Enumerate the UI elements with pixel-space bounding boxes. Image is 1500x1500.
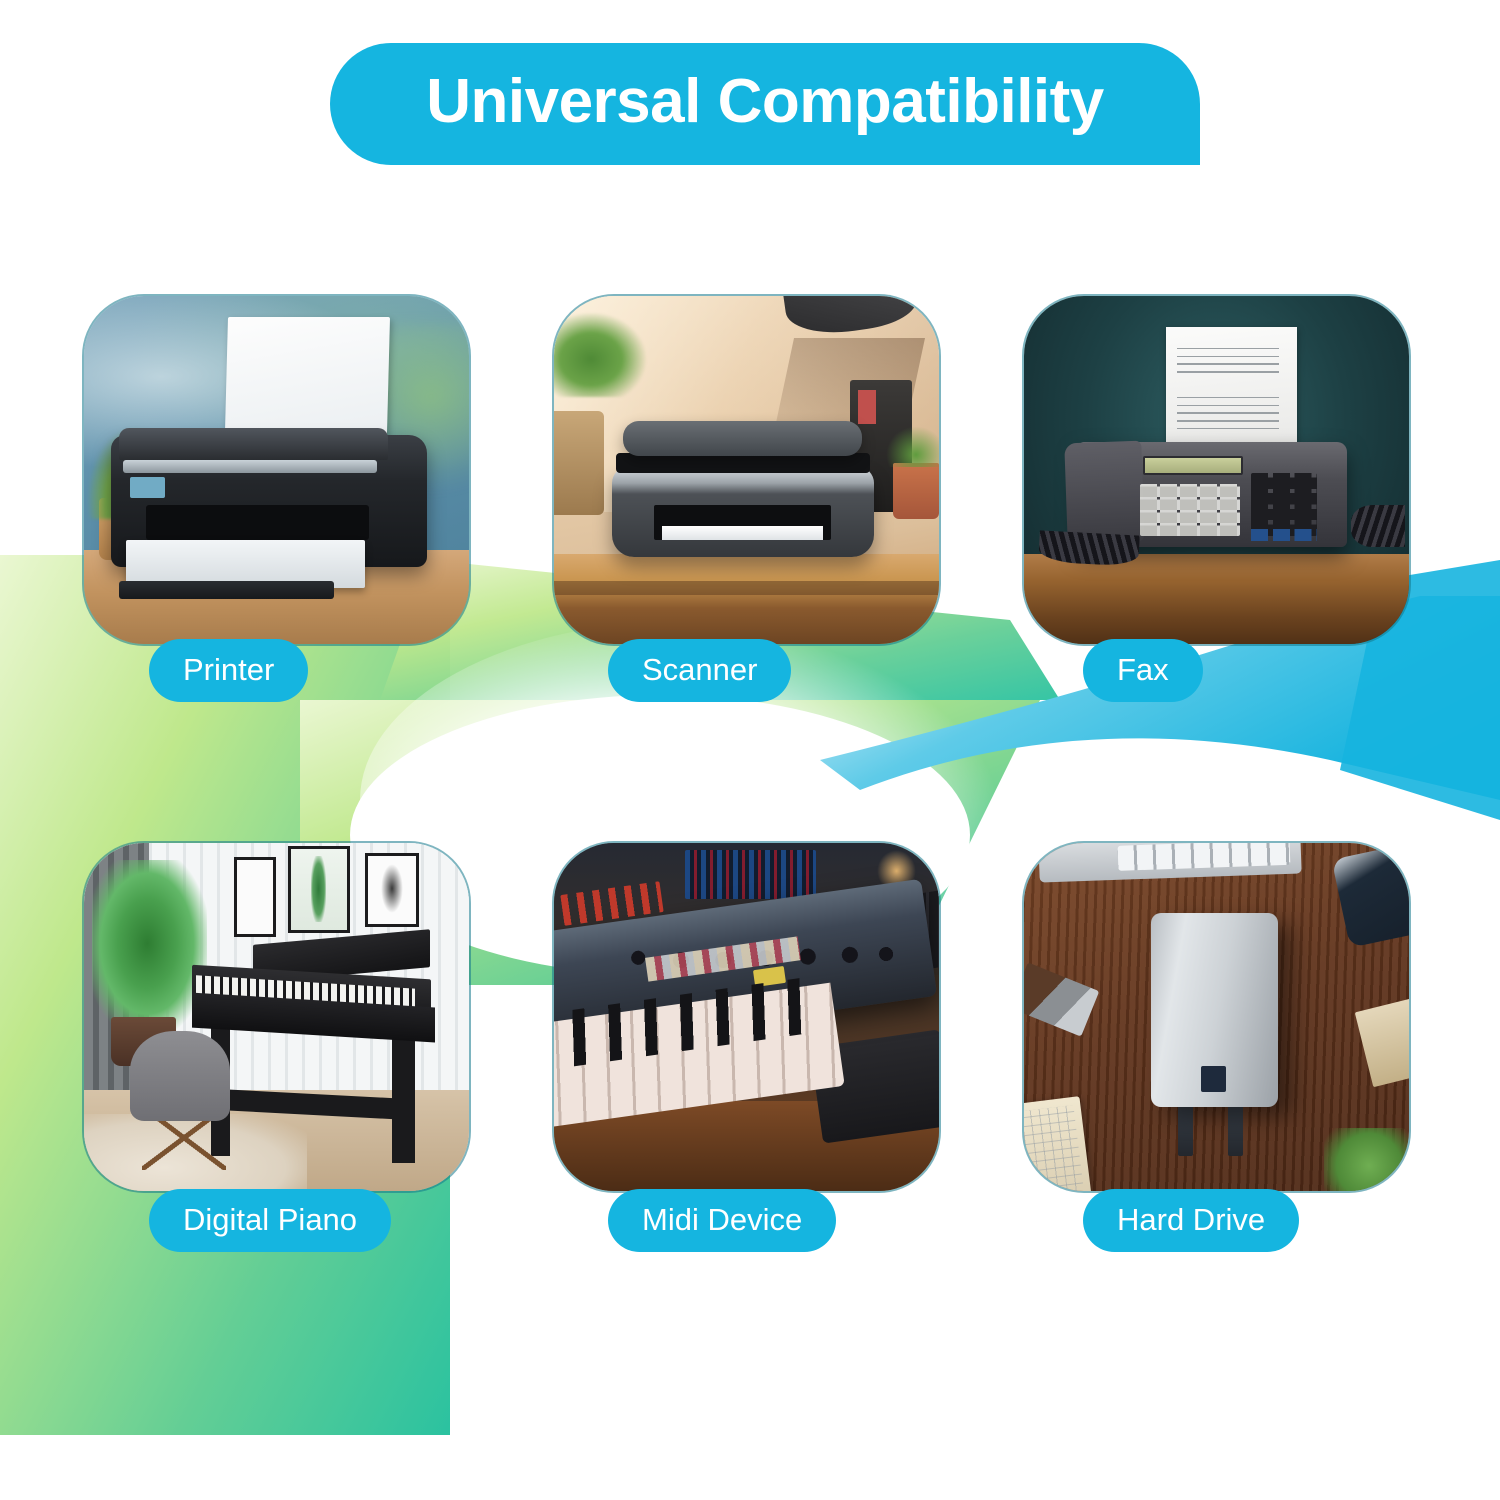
device-card-hard-drive[interactable] <box>1024 843 1409 1191</box>
background-swoosh-graphics <box>0 0 1500 1500</box>
device-card-digital-piano[interactable] <box>84 843 469 1191</box>
device-label-text: Scanner <box>642 654 757 687</box>
device-label-hard-drive[interactable]: Hard Drive <box>1083 1189 1299 1252</box>
device-label-fax[interactable]: Fax <box>1083 639 1203 702</box>
device-card-midi[interactable] <box>554 843 939 1191</box>
device-label-digital-piano[interactable]: Digital Piano <box>149 1189 391 1252</box>
device-label-text: Hard Drive <box>1117 1204 1265 1237</box>
header-banner: Universal Compatibility <box>330 43 1200 165</box>
scanner-photo <box>554 296 939 644</box>
device-card-fax[interactable] <box>1024 296 1409 644</box>
device-card-scanner[interactable] <box>554 296 939 644</box>
device-label-text: Midi Device <box>642 1204 802 1237</box>
device-label-text: Printer <box>183 654 274 687</box>
device-label-text: Fax <box>1117 654 1169 687</box>
digital-piano-photo <box>84 843 469 1191</box>
device-label-scanner[interactable]: Scanner <box>608 639 791 702</box>
page-title: Universal Compatibility <box>426 71 1104 137</box>
printer-photo <box>84 296 469 644</box>
device-label-text: Digital Piano <box>183 1204 357 1237</box>
device-label-printer[interactable]: Printer <box>149 639 308 702</box>
infographic-root: Universal Compatibility Printer Scanner <box>0 0 1500 1500</box>
fax-photo <box>1024 296 1409 644</box>
device-label-midi[interactable]: Midi Device <box>608 1189 836 1252</box>
device-card-printer[interactable] <box>84 296 469 644</box>
midi-device-photo <box>554 843 939 1191</box>
hard-drive-photo <box>1024 843 1409 1191</box>
